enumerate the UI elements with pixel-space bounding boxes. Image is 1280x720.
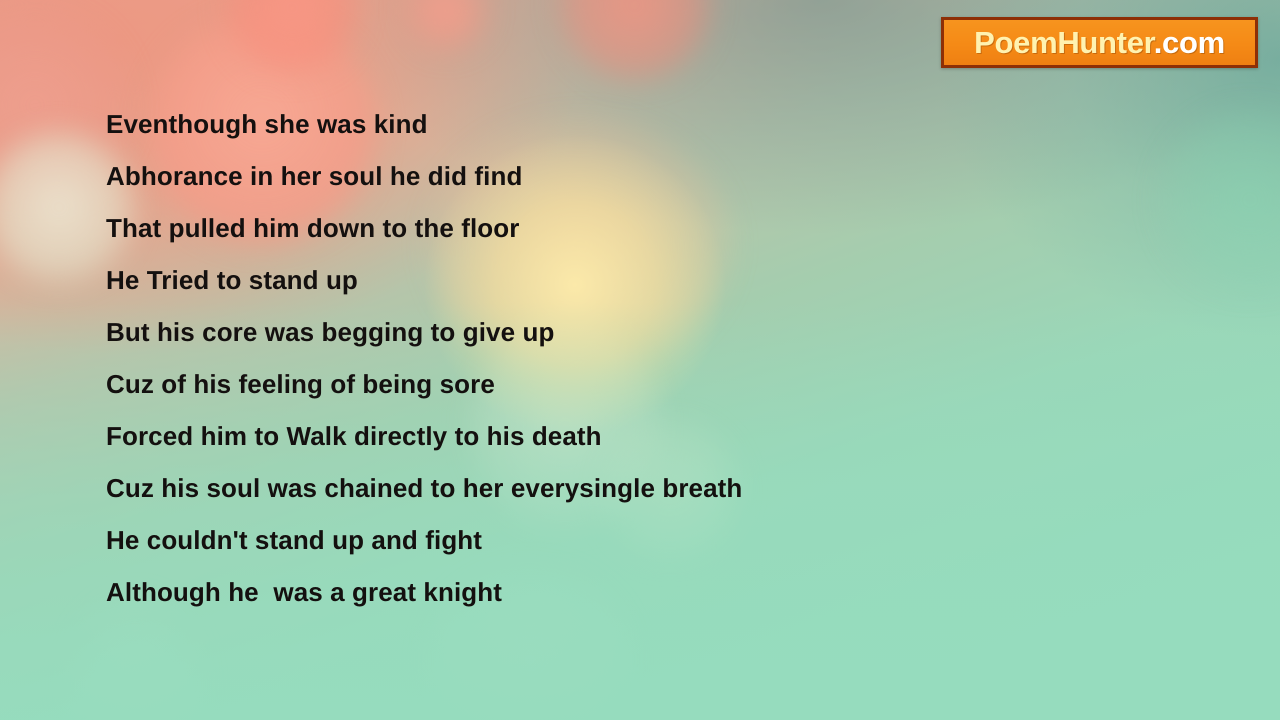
logo-text-dotcom: .com bbox=[1154, 25, 1225, 60]
poem-line: Eventhough she was kind bbox=[106, 98, 1206, 150]
poem-line: Cuz his soul was chained to her everysin… bbox=[106, 462, 1206, 514]
poem-line: He couldn't stand up and fight bbox=[106, 514, 1206, 566]
poem-text-block: Eventhough she was kind Abhorance in her… bbox=[106, 98, 1206, 618]
poem-line: Cuz of his feeling of being sore bbox=[106, 358, 1206, 410]
poem-line: Although he was a great knight bbox=[106, 566, 1206, 618]
poem-line: That pulled him down to the floor bbox=[106, 202, 1206, 254]
poem-line: He Tried to stand up bbox=[106, 254, 1206, 306]
poem-line: Forced him to Walk directly to his death bbox=[106, 410, 1206, 462]
poem-image-canvas: PoemHunter.com Eventhough she was kind A… bbox=[0, 0, 1280, 720]
logo-text: PoemHunter.com bbox=[974, 27, 1225, 58]
poemhunter-logo-badge[interactable]: PoemHunter.com bbox=[941, 17, 1258, 68]
logo-text-poemhunter: PoemHunter bbox=[974, 25, 1154, 60]
poem-line: Abhorance in her soul he did find bbox=[106, 150, 1206, 202]
poem-line: But his core was begging to give up bbox=[106, 306, 1206, 358]
